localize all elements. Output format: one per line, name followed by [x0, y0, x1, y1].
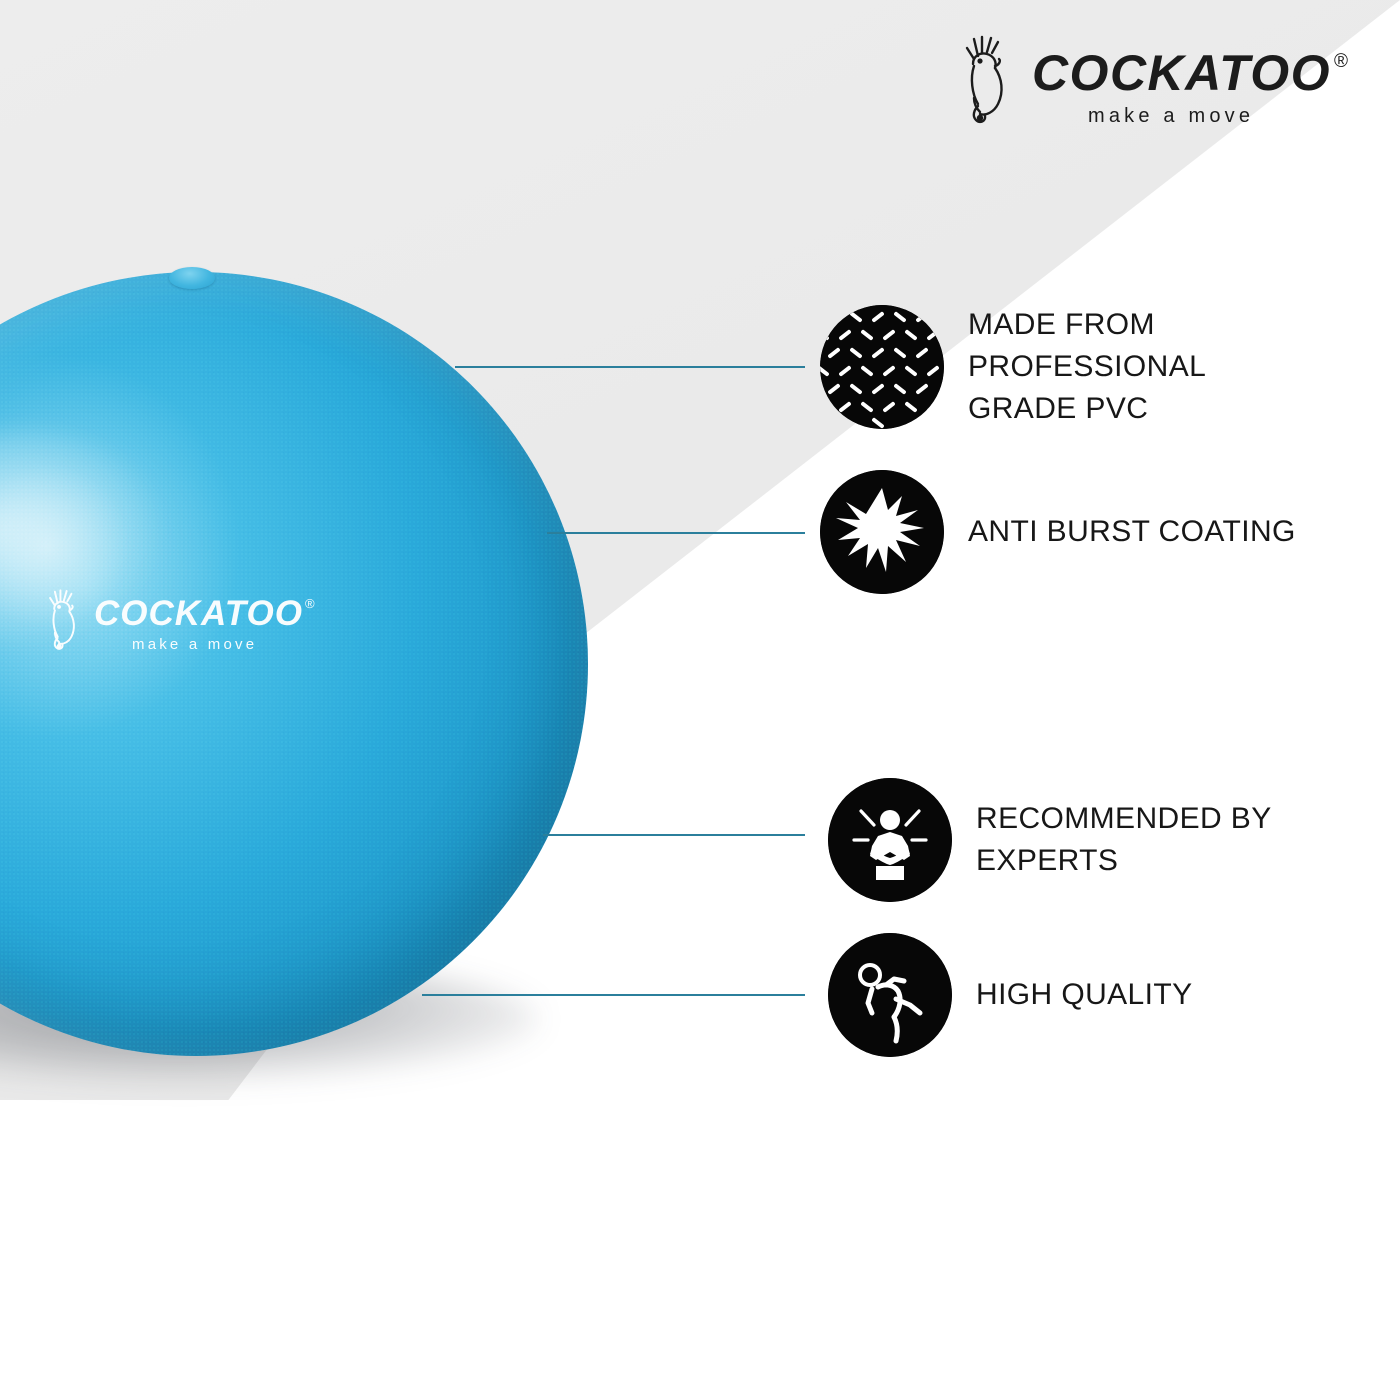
ball-texture	[0, 272, 588, 1056]
feature-anti-burst: ANTI BURST COATING	[820, 470, 1296, 594]
feature-label-material: MADE FROM PROFESSIONAL GRADE PVC	[968, 304, 1388, 430]
feature-expert: RECOMMENDED BY EXPERTS	[828, 778, 1272, 902]
feature-label-quality: HIGH QUALITY	[976, 974, 1193, 1016]
ball-registered-mark: ®	[305, 597, 315, 610]
ball-sphere	[0, 272, 588, 1056]
ball-watermark-logo: COCKATOO ® make a move	[48, 588, 315, 653]
brand-logo: COCKATOO ® make a move	[964, 34, 1348, 128]
product-infographic: COCKATOO ® make a move	[0, 0, 1400, 1400]
registered-mark: ®	[1334, 52, 1348, 71]
connector-line-anti-burst	[547, 532, 805, 534]
connector-line-expert	[543, 834, 805, 836]
brand-tagline: make a move	[1088, 105, 1254, 128]
diamond-plate-texture-icon	[820, 305, 944, 429]
ball-wordmark: COCKATOO ® make a move	[94, 588, 315, 653]
ball-valve-plug	[169, 267, 215, 289]
brand-name: COCKATOO	[1032, 50, 1331, 98]
ball-brand-name: COCKATOO	[94, 597, 303, 630]
stretching-figure-icon	[828, 933, 952, 1057]
cockatoo-bird-icon-white	[48, 588, 88, 652]
brand-wordmark: COCKATOO ® make a move	[1032, 34, 1348, 128]
background-white-bottom	[0, 1100, 1400, 1400]
burst-star-icon	[820, 470, 944, 594]
feature-quality: HIGH QUALITY	[828, 933, 1193, 1057]
feature-label-expert: RECOMMENDED BY EXPERTS	[976, 798, 1272, 882]
feature-material: MADE FROM PROFESSIONAL GRADE PVC	[820, 304, 1388, 430]
ball-brand-tagline: make a move	[132, 636, 257, 653]
feature-label-anti-burst: ANTI BURST COATING	[968, 511, 1296, 553]
expert-person-icon	[828, 778, 952, 902]
exercise-ball: COCKATOO ® make a move	[0, 272, 588, 1056]
connector-line-material	[455, 366, 805, 368]
connector-line-quality	[422, 994, 805, 996]
cockatoo-bird-icon	[964, 34, 1022, 126]
